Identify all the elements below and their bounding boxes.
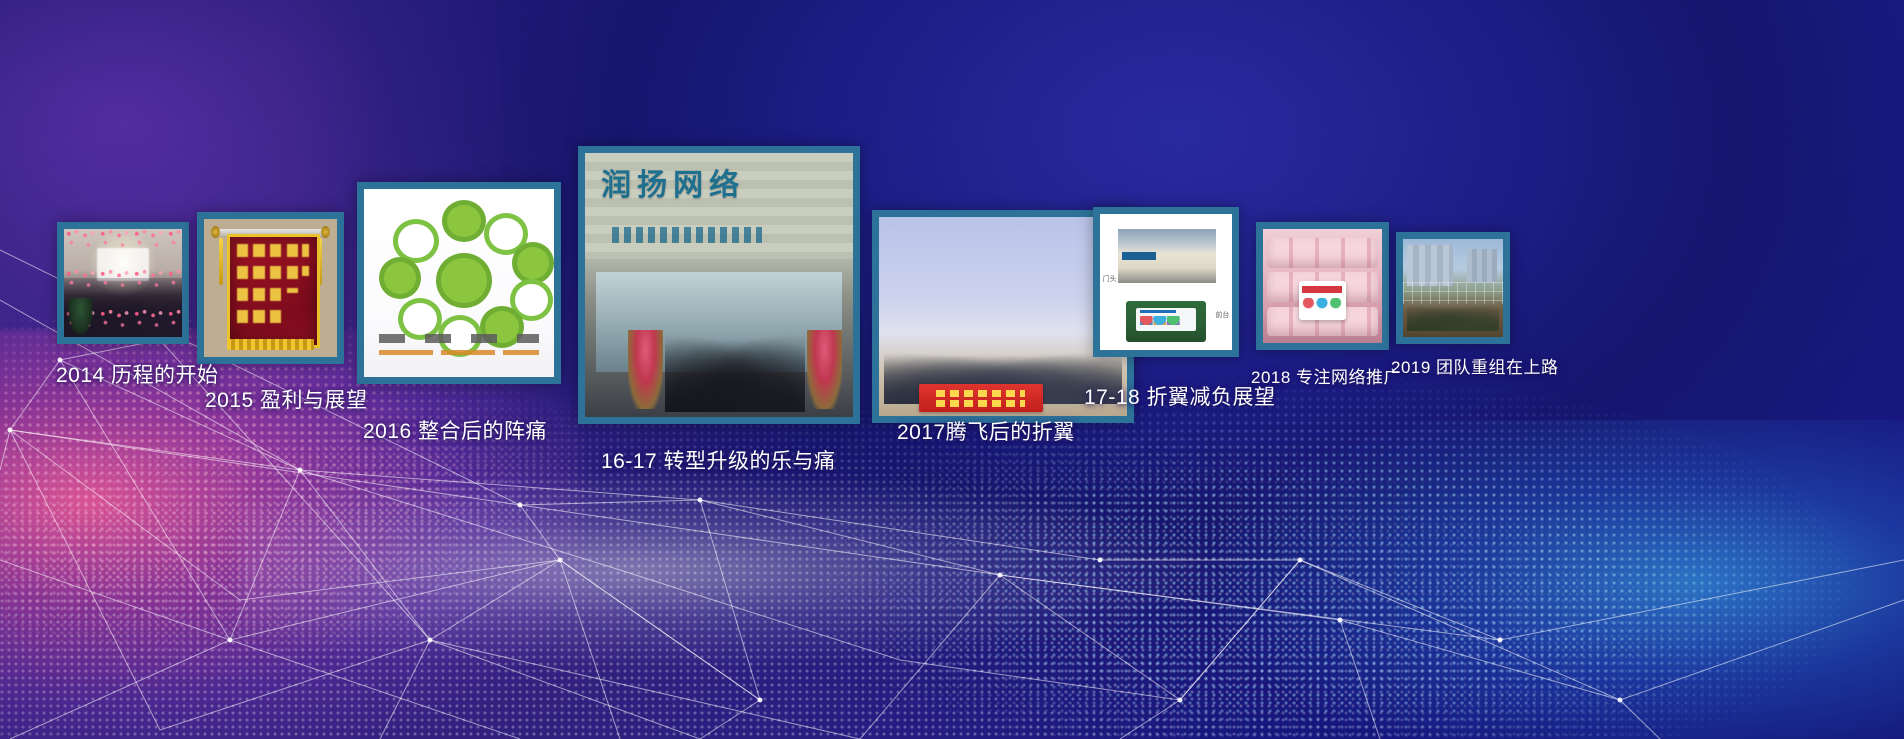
photo-frame xyxy=(57,222,189,344)
photo-image-2015 xyxy=(204,219,337,357)
timeline-label-2016[interactable]: 2016 整合后的阵痛 xyxy=(363,415,547,445)
timeline-label-1718[interactable]: 17-18 折翼减负展望 xyxy=(1084,381,1276,411)
footer-cn-text xyxy=(379,334,539,343)
banner-knob-right xyxy=(321,226,330,238)
board-title-bar xyxy=(1140,310,1176,313)
storefront-subsign xyxy=(612,227,762,243)
banner-tassel-left xyxy=(219,238,224,285)
flower-basket-right xyxy=(807,330,842,409)
photo-image-2014 xyxy=(64,229,182,337)
promo-card-icons xyxy=(1302,298,1342,314)
timeline-banner: 润扬网络 xyxy=(0,0,1904,739)
photo-2015-banner[interactable] xyxy=(197,212,344,364)
banner-line-1 xyxy=(936,390,1025,397)
background-building-2 xyxy=(1467,249,1497,282)
board-panel xyxy=(1136,308,1196,331)
diagram-node xyxy=(379,257,421,299)
promo-card xyxy=(1299,281,1347,320)
timeline-label-2019[interactable]: 2019 团队重组在上路 xyxy=(1391,353,1559,378)
diagram-node xyxy=(442,200,486,242)
label-tag-right: 前台 xyxy=(1215,310,1229,320)
photo-1617-storefront[interactable]: 润扬网络 xyxy=(578,146,860,424)
photo-image-1617: 润扬网络 xyxy=(585,153,853,417)
photo-frame xyxy=(197,212,344,364)
banner-knob-left xyxy=(211,226,220,238)
reception-board xyxy=(1126,301,1205,342)
timeline-label-2014[interactable]: 2014 历程的开始 xyxy=(56,359,219,389)
banner-text-col xyxy=(287,244,298,294)
building-nameplate xyxy=(1122,252,1155,261)
staff-lineup xyxy=(665,306,804,412)
photo-frame xyxy=(1256,222,1389,350)
photo-frame xyxy=(1396,232,1510,344)
diagram-footer xyxy=(379,334,539,364)
red-banner xyxy=(919,384,1043,412)
banner-text-col xyxy=(270,244,281,332)
timeline-label-2018[interactable]: 2018 专注网络推广 xyxy=(1251,363,1401,388)
photo-image-2016 xyxy=(364,189,554,377)
timeline-label-2015[interactable]: 2015 盈利与展望 xyxy=(205,384,368,414)
background-building xyxy=(1407,245,1453,286)
photo-2019-outdoor-team[interactable] xyxy=(1396,232,1510,344)
banner-text-col xyxy=(302,244,310,276)
gift-box-row xyxy=(1267,238,1379,268)
photo-frame: 润扬网络 xyxy=(578,146,860,424)
footer-en-text xyxy=(379,350,539,355)
photo-frame xyxy=(357,182,561,384)
photo-image-2018 xyxy=(1263,229,1382,343)
photo-frame: 门头 前台 xyxy=(1093,207,1239,357)
white-wave-crest xyxy=(240,470,1240,670)
diagram-center-node xyxy=(436,253,492,308)
flower-basket-left xyxy=(628,330,663,409)
label-tag-left: 门头 xyxy=(1103,274,1117,284)
factory-building xyxy=(1118,229,1216,283)
camo-team xyxy=(1407,294,1499,331)
photo-2014-celebration[interactable] xyxy=(57,222,189,344)
photo-2018-gifts[interactable] xyxy=(1256,222,1389,350)
storefront-sign: 润扬网络 xyxy=(601,171,767,224)
photo-image-2019 xyxy=(1403,239,1503,337)
photo-2016-infographic[interactable] xyxy=(357,182,561,384)
diagram-node xyxy=(512,242,554,284)
cyan-glow xyxy=(1204,420,1904,739)
red-silk-banner xyxy=(227,234,321,348)
banner-fringe xyxy=(227,339,315,350)
photo-image-1718: 门头 前台 xyxy=(1100,214,1232,350)
promo-card-title xyxy=(1302,286,1342,293)
timeline-label-1617[interactable]: 16-17 转型升级的乐与痛 xyxy=(601,445,836,475)
photo-1718-office-collage[interactable]: 门头 前台 xyxy=(1093,207,1239,357)
banner-line-2 xyxy=(936,400,1025,407)
banner-text-col xyxy=(253,244,264,332)
potted-plant xyxy=(68,298,94,335)
banner-text-col xyxy=(237,244,248,332)
timeline-label-2017[interactable]: 2017腾飞后的折翼 xyxy=(897,416,1075,446)
board-icon-grid xyxy=(1140,316,1193,325)
